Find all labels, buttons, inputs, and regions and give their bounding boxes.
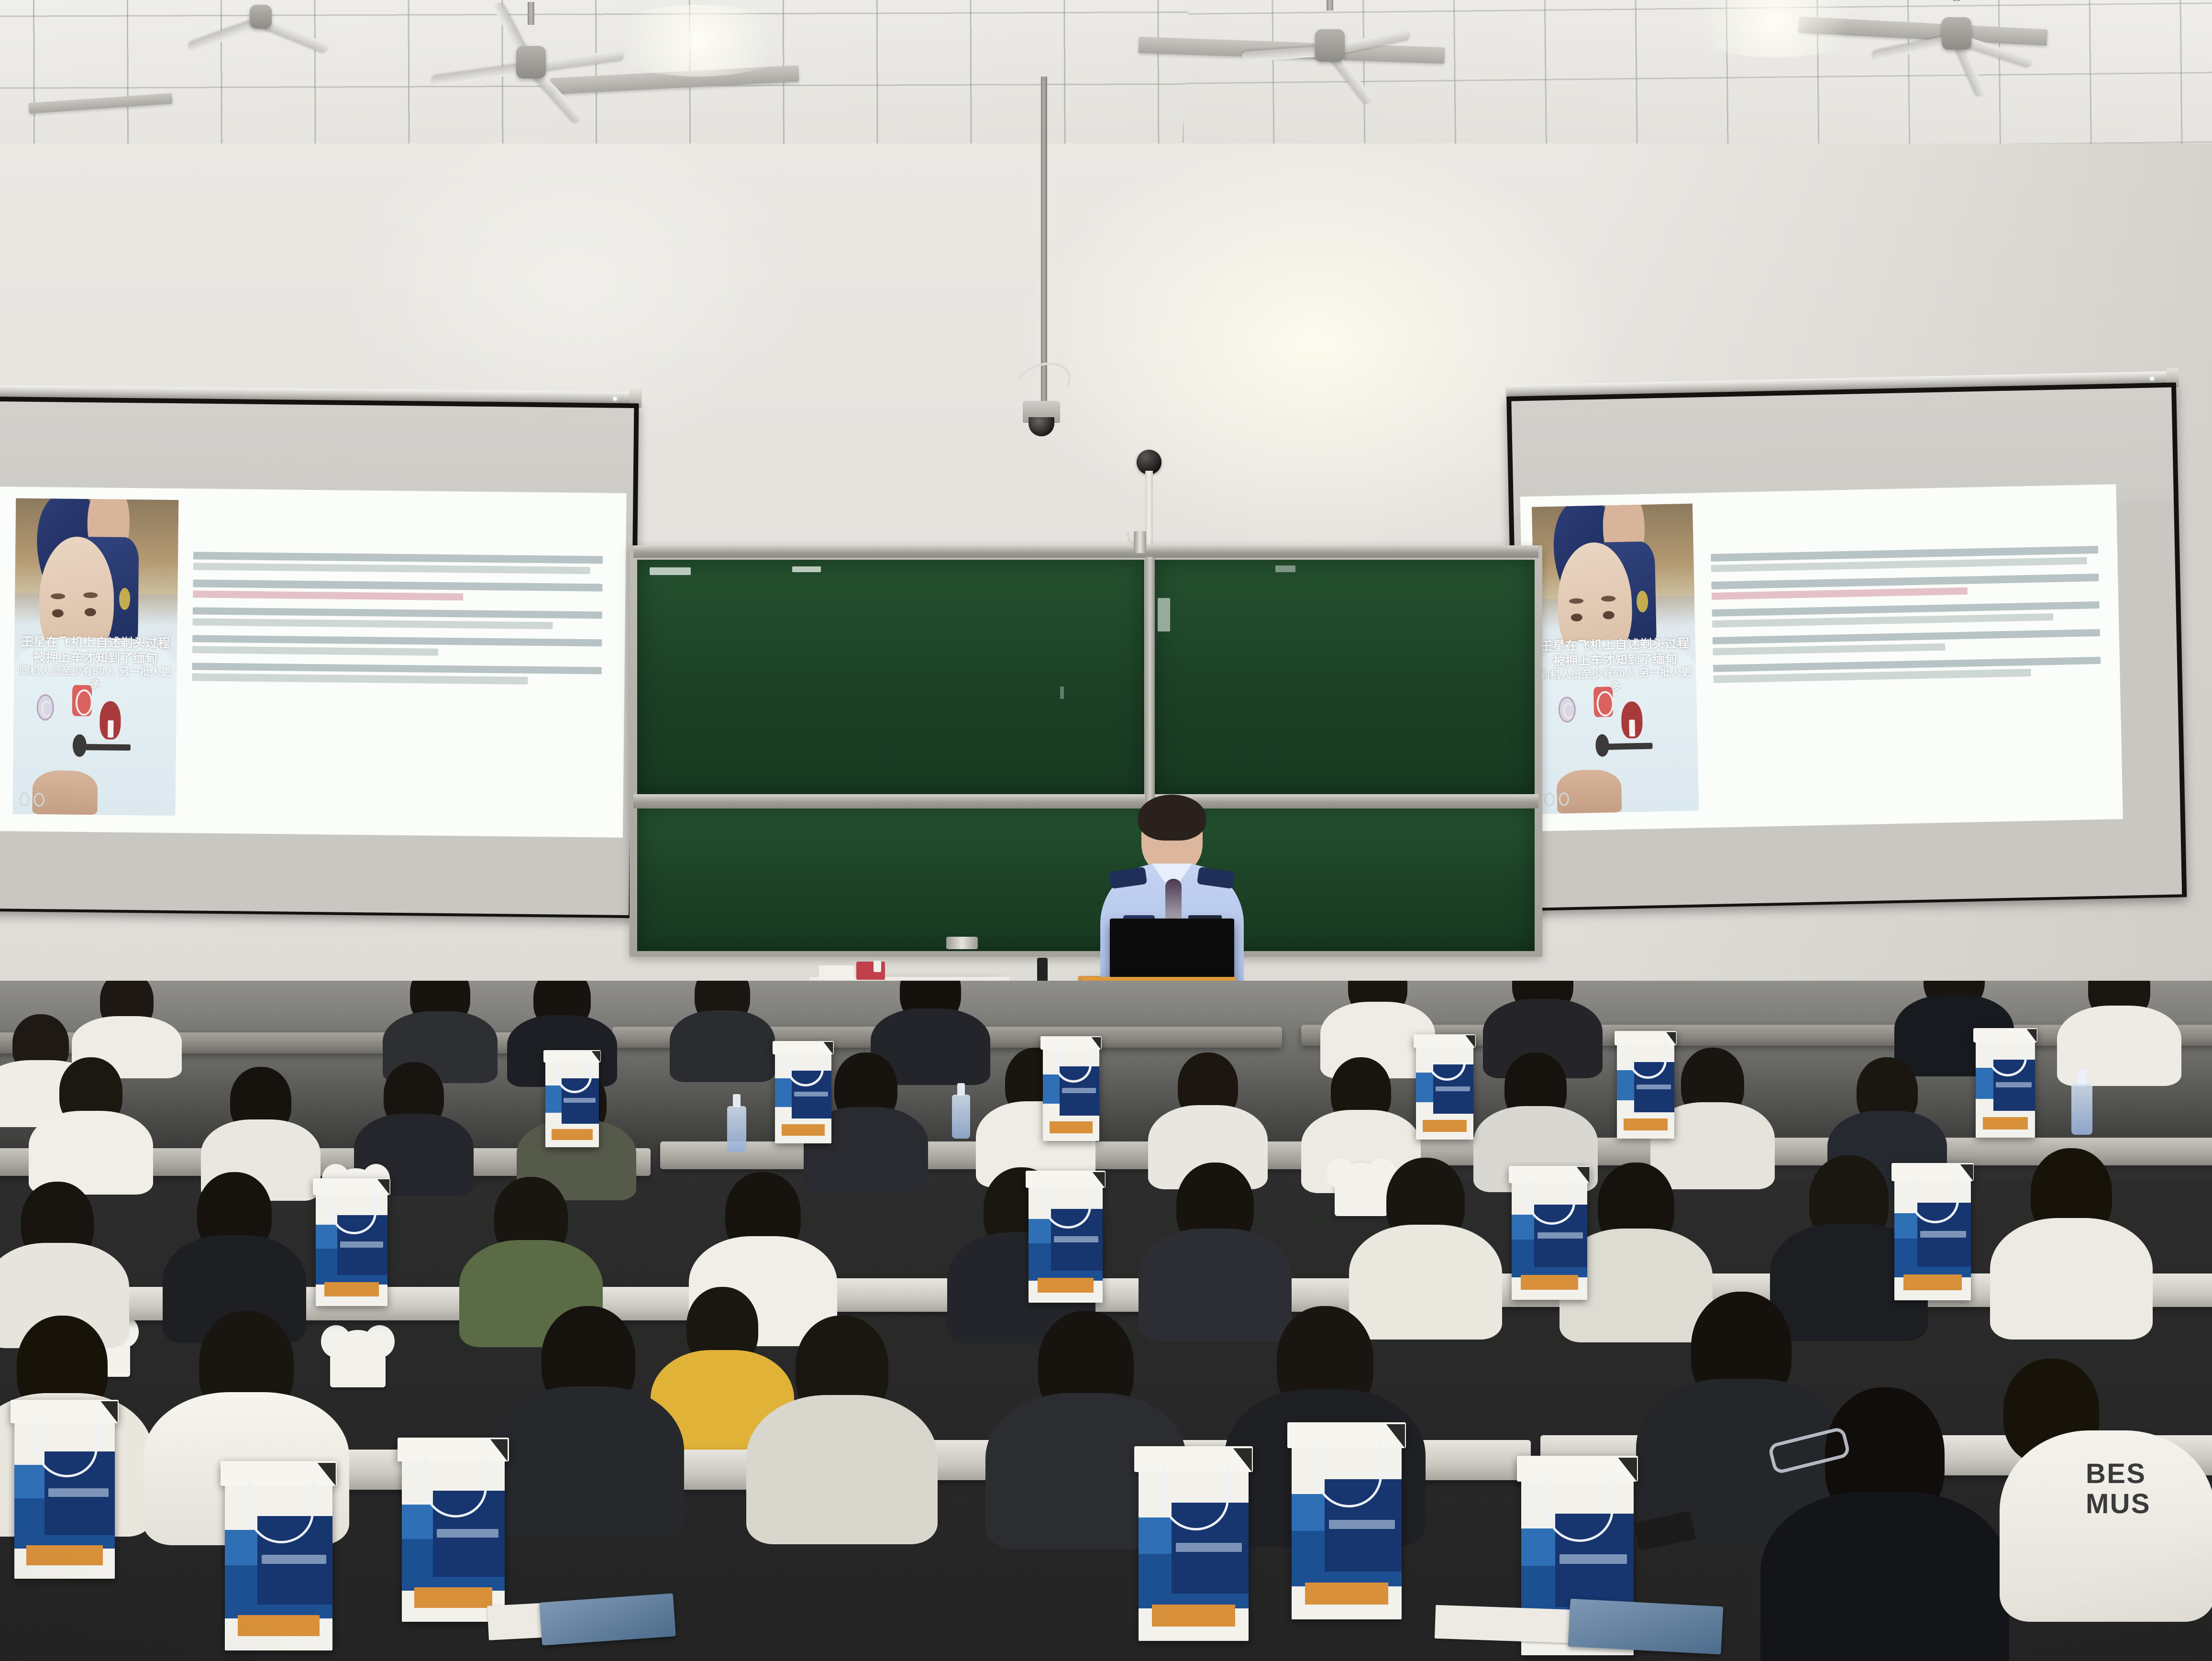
person-body: [1760, 1492, 2009, 1661]
bag-handle: [1045, 1184, 1091, 1229]
gift-bag: [14, 1411, 115, 1579]
lecture-hall-photo: 王星在飞机上自述剃头过程 被押上车才知到了缅甸 同机人员至少有50人 另一批人更…: [0, 0, 2212, 1661]
chalk-mark: [792, 566, 821, 572]
bag-logo: [1436, 1086, 1470, 1091]
bag-handle: [1428, 1045, 1465, 1081]
photo-subject-hands: [32, 770, 98, 815]
photo-caption: 王星在飞机上自述剃头过程 被押上车才知到了缅甸 同机人员至少有50人 另一批人更…: [1537, 636, 1693, 695]
slide-paragraph: 到了缅甸边境，再通过小船渡河等方式，把人偷运到缅甸境内的诈骗园区。在园区里，受害…: [192, 663, 601, 685]
ceiling-fan-3: [1866, 0, 2047, 72]
bag-orange-band: [1038, 1278, 1094, 1293]
photo-mic-flag: [108, 720, 114, 738]
audience-person: [746, 1316, 938, 1517]
bag-logo: [437, 1529, 498, 1538]
speaker-hair: [1138, 795, 1206, 841]
bag-logo: [48, 1488, 109, 1497]
gift-bag: [1894, 1172, 1971, 1300]
ceiling-fan-2: [1234, 5, 1426, 86]
gift-bag: [1292, 1435, 1402, 1619]
gift-bag: [1512, 1174, 1587, 1300]
gift-bag: [316, 1186, 387, 1306]
gift-bag: [1139, 1459, 1249, 1641]
gift-bag: [402, 1450, 505, 1622]
audience-person: [1827, 1057, 1947, 1170]
photo-mic-boom: [1601, 742, 1653, 750]
gift-bag: [1043, 1043, 1099, 1141]
audience-person: [354, 1062, 474, 1170]
slide-text-line: 泰国，就用车辆接力转运，一步步把人引向缅甸。: [192, 646, 438, 656]
bag-orange-band: [414, 1587, 492, 1608]
photo-officer-badge: [1637, 590, 1648, 612]
photo-mic-boom: [78, 743, 131, 751]
screen-surface: 王星在飞机上自述剃头过程 被押上车才知到了缅甸 同机人员至少有50人 另一批人更…: [1511, 388, 2182, 908]
chalk-mark: [650, 567, 691, 575]
gift-bag: [545, 1056, 599, 1147]
bag-logo: [564, 1098, 596, 1103]
photo-subject-eye-right: [85, 608, 96, 616]
cabinet-item-chalk: [874, 961, 881, 972]
slide-text-line: 害者被迫接受诈骗培训，如果不听话，就会遭受打骂，甚至电击等手段。: [1713, 669, 2031, 683]
bag-handle: [787, 1052, 824, 1086]
bag-orange-band: [324, 1282, 379, 1296]
slide-text-line: 头发被剃光，还受到连续两三天的培训洗脑，以防他反抗击溃他心中的防线。: [193, 563, 590, 574]
blackboard-rail-top: [633, 545, 1538, 558]
slide-text-line: 一旦演员上钩，就安排所谓的面试、试戏，流程看起来正规，实则暗藏玄机，等演员到了: [1713, 629, 2100, 645]
slide-text-line: 这些不法分子通过各种渠道收集演员信息，精准锁定目标，打着正规影视公司的幌: [193, 607, 602, 619]
slide-text-line: 子，编造各种高大上的影视拍摄项目，诱骗受害人前往境外地区，让人心动不已。: [193, 618, 553, 630]
bag-handle: [1629, 1042, 1666, 1078]
slide-text-block: 1月7日，王星被成功解救并带回国内。据王星讲述，他在园区内第一天就遭遇殴打，头发…: [1711, 546, 2101, 693]
bag-handle: [1316, 1442, 1382, 1507]
fan-rod: [528, 2, 534, 25]
gift-bag: [225, 1473, 332, 1650]
photo-caption: 王星在飞机上自述剃头过程 被押上车才知到了缅甸 同机人员至少有50人 另一批人更…: [17, 634, 174, 692]
left-projection-screen[interactable]: 王星在飞机上自述剃头过程 被押上车才知到了缅甸 同机人员至少有50人 另一批人更…: [0, 385, 639, 918]
handout-paper: [1435, 1605, 1579, 1643]
slide-photo: 王星在飞机上自述剃头过程 被押上车才知到了缅甸 同机人员至少有50人 另一批人更…: [1532, 504, 1699, 814]
audience-person: [383, 981, 498, 1057]
blackboard-rail-middle: [633, 794, 1538, 808]
bag-handle: [332, 1191, 376, 1234]
bag-logo: [1637, 1085, 1671, 1090]
audience-person: [459, 1177, 603, 1320]
tshirt-line-2: MUS: [2086, 1489, 2151, 1519]
gift-bag: [1976, 1035, 2035, 1138]
record-button-icon: [1593, 687, 1614, 717]
slide-text-line: 到了缅甸边境，再通过小船渡河等方式，把人偷运到缅甸境内的诈骗园区。在园区里，受: [192, 663, 602, 675]
bag-orange-band: [1423, 1120, 1466, 1132]
screen-indicator-dot: [2150, 376, 2154, 380]
bag-orange-band: [1624, 1118, 1667, 1130]
leaflet: [539, 1593, 676, 1645]
audience-person: [29, 1057, 153, 1167]
chalk-mark: [1060, 687, 1064, 699]
slide-paragraph: 一旦演员上钩，就安排所谓的面试、试戏，流程看起来正规，实则暗藏玄机，等演员到了泰…: [192, 635, 602, 657]
chalk-eraser: [1158, 598, 1170, 631]
photo-ui-dot: [34, 793, 44, 807]
bag-orange-band: [782, 1124, 825, 1136]
gift-bag: [1416, 1041, 1473, 1140]
bag-logo: [1054, 1236, 1098, 1242]
bag-logo: [340, 1241, 383, 1248]
gift-bag: [1617, 1038, 1674, 1139]
slide-paragraph: 随着调查的深入，一个以海外招聘演艺工作为诱饵的跨国诈骗链条浮出水面。王星所遭遇的…: [1711, 574, 2099, 600]
stage-canister: [946, 937, 978, 949]
bag-logo: [1996, 1082, 2031, 1087]
person-body: [746, 1395, 938, 1544]
slide-paragraph: 1月7日，王星被成功解救并带回国内。据王星讲述，他在园区内第一天就遭遇殴打，头发…: [1711, 546, 2099, 572]
person-body: [1990, 1218, 2153, 1340]
bag-orange-band: [238, 1615, 320, 1636]
bag-handle: [1911, 1177, 1959, 1223]
bag-handle: [1055, 1047, 1092, 1083]
slide-paragraph: 这些不法分子通过各种渠道收集演员信息，精准锁定目标，打着正规影视公司的幌子，编造…: [1712, 601, 2100, 628]
slide-photo: 王星在飞机上自述剃头过程 被押上车才知到了缅甸 同机人员至少有50人 另一批人更…: [12, 498, 178, 816]
photo-caption-line-3: 同机人员至少有50人 另一批人更多: [1538, 666, 1693, 695]
audience-person: [507, 981, 617, 1061]
ceiling-mount-pole: [1041, 77, 1047, 402]
screen-surface: 王星在飞机上自述剃头过程 被押上车才知到了缅甸 同机人员至少有50人 另一批人更…: [0, 401, 634, 915]
slide-paragraph: 一旦演员上钩，就安排所谓的面试、试戏，流程看起来正规，实则暗藏玄机，等演员到了泰…: [1713, 629, 2101, 655]
bag-handle: [557, 1060, 592, 1094]
slide-text-line: 遇的，是近年来在东南亚地区高发的电信网络诈骗典型手法。: [193, 590, 463, 601]
bag-handle: [1163, 1466, 1229, 1530]
fan-rod: [1953, 0, 1960, 1]
person-body: [493, 1386, 684, 1539]
blackboard-divider: [1145, 557, 1155, 810]
slide-text-line: 害者被迫接受诈骗培训，如果不听话，就会遭受打骂，甚至电击等手段。: [192, 674, 528, 685]
bag-handle: [424, 1456, 487, 1517]
bag-orange-band: [1521, 1275, 1578, 1290]
fan-hub: [250, 5, 272, 29]
audience-person: [1483, 981, 1603, 1052]
photo-ui-dot: [19, 793, 30, 807]
cabinet-item-white: [819, 965, 854, 980]
slide-text-line: 泰国，就用车辆接力转运，一步步把人引向缅甸。: [1713, 643, 1945, 655]
bag-logo: [1062, 1088, 1096, 1093]
slide-paragraph: 1月7日，王星被成功解救并带回国内。据王星讲述，他在园区内第一天就遭遇殴打，头发…: [193, 552, 603, 574]
slide-text-line: 随着调查的深入，一个以海外招聘演艺工作为诱饵的跨国诈骗链条浮出水面。王星所遭: [1711, 574, 2099, 589]
bag-logo: [794, 1092, 828, 1096]
bag-handle: [36, 1418, 98, 1477]
photo-caption-line-2: 被押上车才知到了缅甸: [17, 649, 174, 666]
ceiling-fan-4: [182, 0, 340, 53]
audience-person: [0, 1182, 129, 1320]
fan-rod: [1327, 0, 1333, 11]
blackboard: [630, 545, 1542, 957]
water-bottle: [952, 1095, 970, 1139]
fan-hub: [1315, 29, 1345, 62]
audience-person: [670, 981, 775, 1059]
ceiling-fan-1: [431, 19, 631, 105]
person-body: [670, 1010, 775, 1082]
audience-person: [1139, 1163, 1292, 1316]
water-bottle: [727, 1106, 746, 1152]
bag-logo: [1176, 1543, 1242, 1552]
blackboard-panel-bottom: [637, 808, 1535, 951]
chair-lobe: [365, 1325, 395, 1357]
fan-hub: [1942, 17, 1971, 50]
bag-logo: [1559, 1554, 1627, 1564]
gift-bag: [775, 1048, 831, 1143]
bag-handle: [1546, 1476, 1614, 1542]
photo-subject-brow-left: [51, 593, 66, 599]
bag-logo: [1920, 1231, 1966, 1237]
screen-indicator-dot: [613, 397, 617, 401]
audience-area: BES MUS: [0, 981, 2212, 1661]
bag-orange-band: [26, 1545, 103, 1565]
water-bottle: [2071, 1083, 2092, 1135]
bag-handle: [1989, 1040, 2026, 1077]
slide-paragraph: 这些不法分子通过各种渠道收集演员信息，精准锁定目标，打着正规影视公司的幌子，编造…: [193, 607, 602, 630]
photo-subject-hands: [1557, 769, 1622, 814]
audience-person: [2057, 981, 2181, 1057]
bag-logo: [1329, 1520, 1395, 1529]
audience-person: [201, 1067, 321, 1172]
tshirt-logo-text: BES MUS: [2086, 1459, 2151, 1519]
gift-bag: [1029, 1179, 1103, 1303]
slide-text-line: 1月7日，王星被成功解救并带回国内。据王星讲述，他在园区内第一天就遭遇殴打，: [193, 552, 603, 564]
leaflet: [1568, 1599, 1724, 1655]
bag-orange-band: [1983, 1117, 2028, 1129]
audience-person: [1148, 1052, 1268, 1165]
audience-person: [163, 1172, 306, 1316]
slide-text-line: 到了缅甸边境，再通过小船渡河等方式，把人偷运到缅甸境内的诈骗园区。在园区里，受: [1713, 657, 2101, 673]
audience-person-glasses: [1760, 1387, 2009, 1655]
chalk-mark: [1275, 565, 1295, 572]
slide-text-line: 随着调查的深入，一个以海外招聘演艺工作为诱饵的跨国诈骗链条浮出水面。王星所遭: [193, 579, 602, 591]
slide-canvas: 王星在飞机上自述剃头过程 被押上车才知到了缅甸 同机人员至少有50人 另一批人更…: [0, 487, 627, 838]
bag-logo: [262, 1555, 326, 1564]
slide-paragraph: 到了缅甸边境，再通过小船渡河等方式，把人偷运到缅甸境内的诈骗园区。在园区里，受害…: [1713, 657, 2101, 683]
slide-text-line: 遇的，是近年来在东南亚地区高发的电信网络诈骗典型手法。: [1712, 587, 1968, 600]
fan-hub: [516, 46, 546, 78]
bag-logo: [1537, 1232, 1583, 1239]
person-body: [2057, 1006, 2181, 1086]
bag-orange-band: [552, 1129, 592, 1140]
photo-mic-flag: [1629, 720, 1636, 737]
right-projection-screen[interactable]: 王星在飞机上自述剃头过程 被押上车才知到了缅甸 同机人员至少有50人 另一批人更…: [1506, 371, 2187, 911]
audience-person: [1473, 1052, 1598, 1167]
audience-person: [493, 1306, 684, 1512]
slide-text-block: 1月7日，王星被成功解救并带回国内。据王星讲述，他在园区内第一天就遭遇殴打，头发…: [192, 552, 603, 695]
blackboard-panel-top-left: [637, 560, 1144, 794]
bag-orange-band: [1152, 1605, 1236, 1627]
bag-handle: [249, 1481, 314, 1543]
slide-text-line: 一旦演员上钩，就安排所谓的面试、试戏，流程看起来正规，实则暗藏玄机，等演员到了: [192, 635, 602, 647]
photo-subject-brow-right: [83, 592, 98, 598]
audience-person: [1349, 1158, 1502, 1316]
bag-handle: [1528, 1179, 1575, 1224]
photo-ui-dot: [1544, 793, 1555, 806]
photo-caption-line-1: 王星在飞机上自述剃头过程: [18, 634, 174, 651]
audience-person: [1301, 1057, 1421, 1167]
slide-paragraph: 随着调查的深入，一个以海外招聘演艺工作为诱饵的跨国诈骗链条浮出水面。王星所遭遇的…: [193, 579, 602, 602]
bag-orange-band: [1903, 1274, 1962, 1290]
bag-orange-band: [1050, 1121, 1093, 1133]
audience-person: [871, 981, 990, 1057]
record-button-icon: [72, 685, 92, 716]
photo-caption-line-3: 同机人员至少有50人 另一批人更多: [17, 664, 174, 692]
dome-camera-icon: [1023, 401, 1060, 423]
tshirt-line-1: BES: [2086, 1459, 2151, 1489]
photo-ui-dot: [1559, 792, 1569, 806]
audience-person: [1990, 1148, 2153, 1316]
blackboard-hook: [1134, 531, 1146, 553]
bag-orange-band: [1305, 1583, 1389, 1605]
slide-canvas: 王星在飞机上自述剃头过程 被押上车才知到了缅甸 同机人员至少有50人 另一批人更…: [1520, 484, 2123, 831]
blackboard-panel-top-right: [1154, 560, 1535, 794]
